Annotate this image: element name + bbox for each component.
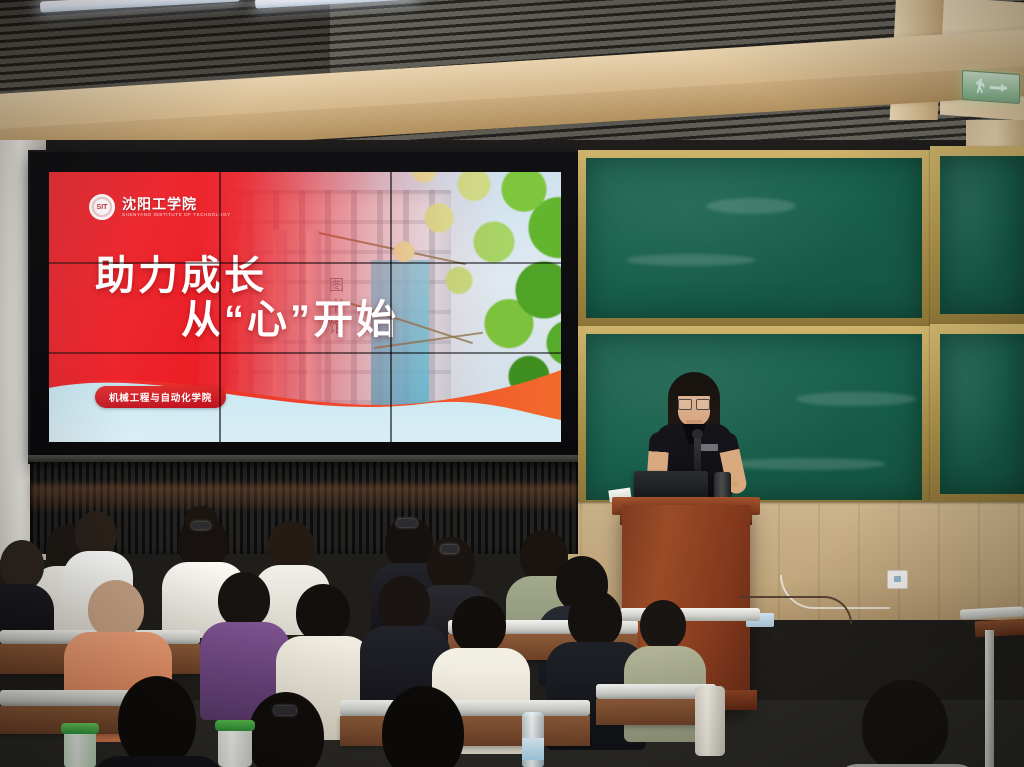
university-name-en: SHENYANG INSTITUTE OF TECHNOLOGY bbox=[122, 213, 231, 218]
paper-cup-2 bbox=[64, 730, 96, 767]
slide-title-line-1: 助力成长 bbox=[95, 256, 267, 296]
bottle-label bbox=[522, 738, 544, 760]
attendee-head bbox=[452, 596, 506, 654]
attendee-head bbox=[378, 576, 430, 632]
attendee-head bbox=[88, 580, 144, 638]
bench bbox=[340, 716, 590, 746]
attendee-head bbox=[568, 590, 622, 648]
hair-clip bbox=[397, 519, 417, 527]
white-thermos bbox=[695, 686, 725, 756]
lecture-hall-photo: 图书馆 SIT 沈阳工学院 SHENYANG INSTITU bbox=[0, 0, 1024, 767]
university-seal-icon: SIT bbox=[89, 194, 115, 220]
video-wall-display: 图书馆 SIT 沈阳工学院 SHENYANG INSTITU bbox=[49, 172, 561, 442]
led-video-wall[interactable]: 图书馆 SIT 沈阳工学院 SHENYANG INSTITU bbox=[30, 152, 578, 462]
power-outlet bbox=[887, 570, 908, 589]
attendee-body bbox=[92, 756, 224, 767]
cup-lid bbox=[215, 720, 255, 731]
hair-clip bbox=[274, 706, 296, 715]
attendee-head bbox=[296, 584, 350, 642]
slide-university-logo: SIT 沈阳工学院 SHENYANG INSTITUTE OF TECHNOLO… bbox=[89, 194, 231, 220]
presentation-slide: 图书馆 SIT 沈阳工学院 SHENYANG INSTITU bbox=[49, 172, 561, 442]
attendee-head bbox=[118, 676, 196, 767]
attendee-head bbox=[640, 600, 686, 650]
table-right bbox=[975, 619, 1024, 638]
screen-rail bbox=[28, 455, 580, 462]
table-leg-right bbox=[985, 630, 994, 767]
slide-department-badge: 机械工程与自动化学院 bbox=[95, 386, 226, 408]
water-bottle bbox=[522, 712, 544, 767]
shirt-logo bbox=[700, 444, 718, 451]
glasses-icon bbox=[678, 399, 710, 408]
attendee-head bbox=[268, 521, 314, 571]
bench-backrest bbox=[340, 700, 590, 716]
hair-clip bbox=[441, 545, 458, 553]
hair-clip bbox=[192, 522, 210, 529]
running-person-icon bbox=[974, 77, 987, 95]
podium-thermos bbox=[714, 472, 731, 499]
laptop[interactable] bbox=[634, 471, 708, 499]
attendee-head bbox=[0, 540, 44, 590]
right-arrow-icon bbox=[990, 82, 1008, 92]
bench-backrest bbox=[0, 690, 130, 706]
cup-lid bbox=[61, 723, 99, 734]
slide-title-line-2: 从“心”开始 bbox=[181, 300, 399, 340]
attendee-head bbox=[862, 680, 948, 767]
speaker-fringe bbox=[675, 378, 713, 396]
emergency-exit-sign bbox=[962, 70, 1020, 104]
attendee-head bbox=[218, 572, 270, 628]
university-name-cn: 沈阳工学院 bbox=[122, 197, 231, 211]
paper-cup bbox=[218, 726, 252, 767]
